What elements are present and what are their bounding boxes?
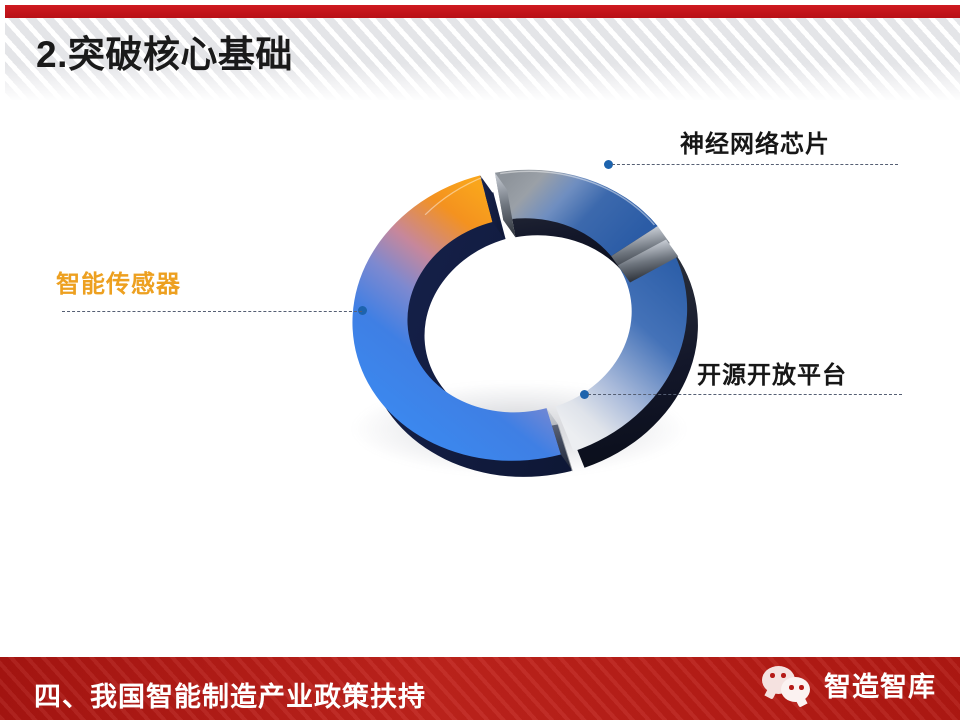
wechat-eye-2 (781, 673, 786, 678)
wechat-eye-1 (770, 673, 775, 678)
connector-line-neural-network-chip (612, 164, 898, 165)
slide-canvas: 2.突破核心基础 (0, 0, 960, 720)
donut-diagram (320, 115, 720, 515)
wechat-icon (762, 664, 814, 704)
brand-name: 智造智库 (824, 665, 936, 704)
ring-top-faces (329, 144, 710, 487)
brand-block: 智造智库 (762, 664, 936, 704)
connector-line-smart-sensor (62, 311, 362, 312)
callout-label-open-source-platform: 开源开放平台 (697, 355, 847, 390)
callout-label-neural-network-chip: 神经网络芯片 (680, 124, 830, 159)
callout-label-smart-sensor: 智能传感器 (56, 264, 181, 299)
header-accent-bar (5, 5, 960, 18)
wechat-eye-4 (799, 685, 804, 690)
connector-line-open-source-platform (588, 394, 902, 395)
donut-ring-svg (293, 111, 747, 519)
donut-ring-tilt-group (293, 111, 747, 519)
wechat-bubble-small (781, 677, 810, 702)
footer-section-title: 四、我国智能制造产业政策扶持 (34, 675, 426, 714)
page-title: 2.突破核心基础 (36, 36, 293, 73)
wechat-eye-3 (789, 685, 794, 690)
